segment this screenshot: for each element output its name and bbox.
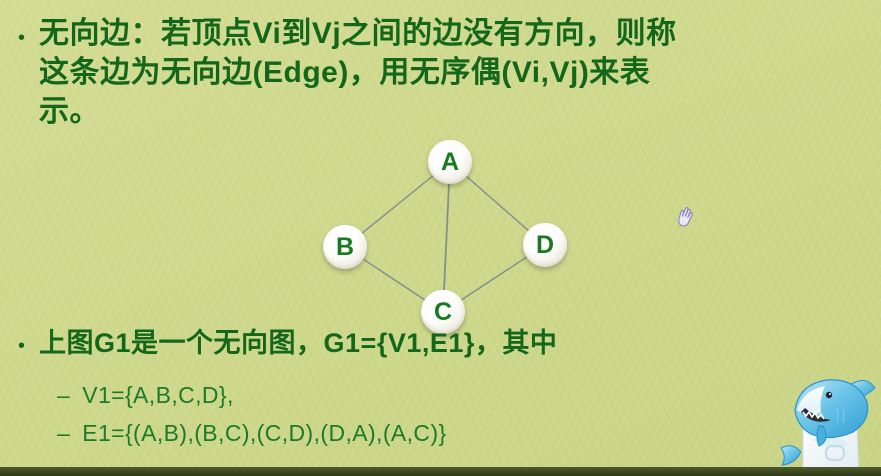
sub-bullet-vertex-set: – V1={A,B,C,D}, <box>57 382 234 409</box>
graph-node-label: A <box>441 150 459 175</box>
sub-bullet-marker-icon: – <box>57 382 70 409</box>
sub-bullet-edge-set: – E1={(A,B),(B,C),(C,D),(D,A),(A,C)} <box>57 420 447 447</box>
bullet-item-graph-definition: • 上图G1是一个无向图，G1={V1,E1}，其中 <box>18 326 868 360</box>
slide-bottom-strip <box>0 467 881 476</box>
sub-bullet-label: E1={(A,B),(B,C),(C,D),(D,A),(A,C)} <box>82 420 446 447</box>
graph-node-label: C <box>434 300 452 325</box>
graph-edges <box>280 108 570 323</box>
sub-bullet-marker-icon: – <box>57 420 70 447</box>
bullet-marker-icon: • <box>18 326 25 356</box>
bullet-line: 无向边：若顶点Vi到Vj之间的边没有方向，则称 <box>39 14 839 53</box>
sub-bullet-label: V1={A,B,C,D}, <box>82 382 234 409</box>
bullet-line: 这条边为无向边(Edge)，用无序偶(Vi,Vj)来表 <box>39 53 839 92</box>
graph-node-label: B <box>336 235 354 260</box>
presentation-slide: • 无向边：若顶点Vi到Vj之间的边没有方向，则称 这条边为无向边(Edge)，… <box>0 0 881 476</box>
bullet-marker-icon: • <box>18 14 25 48</box>
graph-node-label: D <box>536 233 554 258</box>
graph-node-a[interactable]: A <box>428 140 472 184</box>
graph-diagram: A B C D <box>280 108 570 323</box>
graph-node-d[interactable]: D <box>523 223 567 267</box>
bullet-text-graph-definition: 上图G1是一个无向图，G1={V1,E1}，其中 <box>39 326 557 360</box>
shark-mascot-image <box>779 368 879 476</box>
graph-node-b[interactable]: B <box>323 225 367 269</box>
hand-pointer-cursor-icon <box>670 201 704 235</box>
